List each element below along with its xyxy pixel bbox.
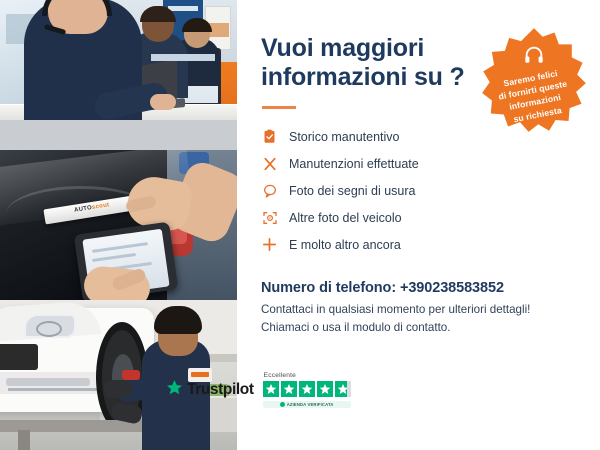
hand-tool-decor <box>122 370 140 380</box>
list-item: E molto altro ancora <box>261 231 578 258</box>
grille-decor <box>0 344 38 370</box>
lift-leg-decor <box>18 430 30 450</box>
feature-list: Storico manutentivo Manutenzioni effettu… <box>261 123 578 258</box>
headset-icon <box>523 44 545 66</box>
list-item-label: Foto dei segni di usura <box>289 184 415 198</box>
star-filled-icon <box>281 381 297 397</box>
clipboard-check-icon <box>261 128 278 145</box>
verified-label: AZIENDA VERIFICATA <box>287 402 334 407</box>
contact-block: Numero di telefono: +390238583852 Contat… <box>261 280 578 337</box>
list-item: Foto dei segni di usura <box>261 177 578 204</box>
phone-number[interactable]: Numero di telefono: +390238583852 <box>261 280 578 296</box>
title-divider <box>262 106 296 109</box>
desk-front-decor <box>0 120 237 150</box>
list-item-label: Manutenzioni effettuate <box>289 157 419 171</box>
list-item-label: E molto altro ancora <box>289 238 401 252</box>
star-filled-icon <box>263 381 279 397</box>
agent-hand-decor <box>150 94 176 110</box>
rating-label: Eccellente <box>264 372 296 379</box>
headlight-decor <box>24 314 76 338</box>
contact-line-1: Contattaci in qualsiasi momento per ulte… <box>261 301 578 319</box>
verified-company-badge: AZIENDA VERIFICATA <box>263 401 351 408</box>
speech-bubble-icon <box>261 182 278 199</box>
car-inspection-photo: AUTOscout <box>0 150 237 300</box>
contact-line-2: Chiamaci o usa il modulo di contatto. <box>261 319 578 337</box>
trustpilot-logo: Trustpilot <box>166 379 254 401</box>
trustpilot-name: Trustpilot <box>187 381 254 399</box>
star-partial-icon <box>335 381 351 397</box>
tools-cross-icon <box>261 155 278 172</box>
glove-left-decor <box>104 380 132 398</box>
headset-decor <box>42 0 112 16</box>
list-item-label: Altre foto del veicolo <box>289 211 402 225</box>
star-rating <box>263 381 351 397</box>
mechanic-hair-decor <box>154 306 202 334</box>
verified-check-icon <box>280 402 285 407</box>
promo-banner: AUTOscout <box>0 0 600 450</box>
monitor-toolbar-decor <box>151 54 215 61</box>
star-filled-icon <box>317 381 333 397</box>
trustpilot-widget[interactable]: Trustpilot Eccellente <box>166 372 351 408</box>
list-item-label: Storico manutentivo <box>289 130 399 144</box>
call-center-photo <box>0 0 237 150</box>
callout-badge: Saremo felici di fornirti queste informa… <box>480 26 588 134</box>
plus-icon <box>261 236 278 253</box>
scan-frame-icon <box>261 209 278 226</box>
air-vent-decor <box>6 378 90 386</box>
trustpilot-star-icon <box>166 379 183 401</box>
chrome-trim-decor <box>8 388 104 391</box>
list-item: Manutenzioni effettuate <box>261 150 578 177</box>
star-filled-icon <box>299 381 315 397</box>
trustpilot-rating: Eccellente AZIEND <box>263 372 351 408</box>
list-item: Altre foto del veicolo <box>261 204 578 231</box>
page-title: Vuoi maggiori informazioni su ? <box>261 34 476 92</box>
contact-description: Contattaci in qualsiasi momento per ulte… <box>261 301 578 337</box>
